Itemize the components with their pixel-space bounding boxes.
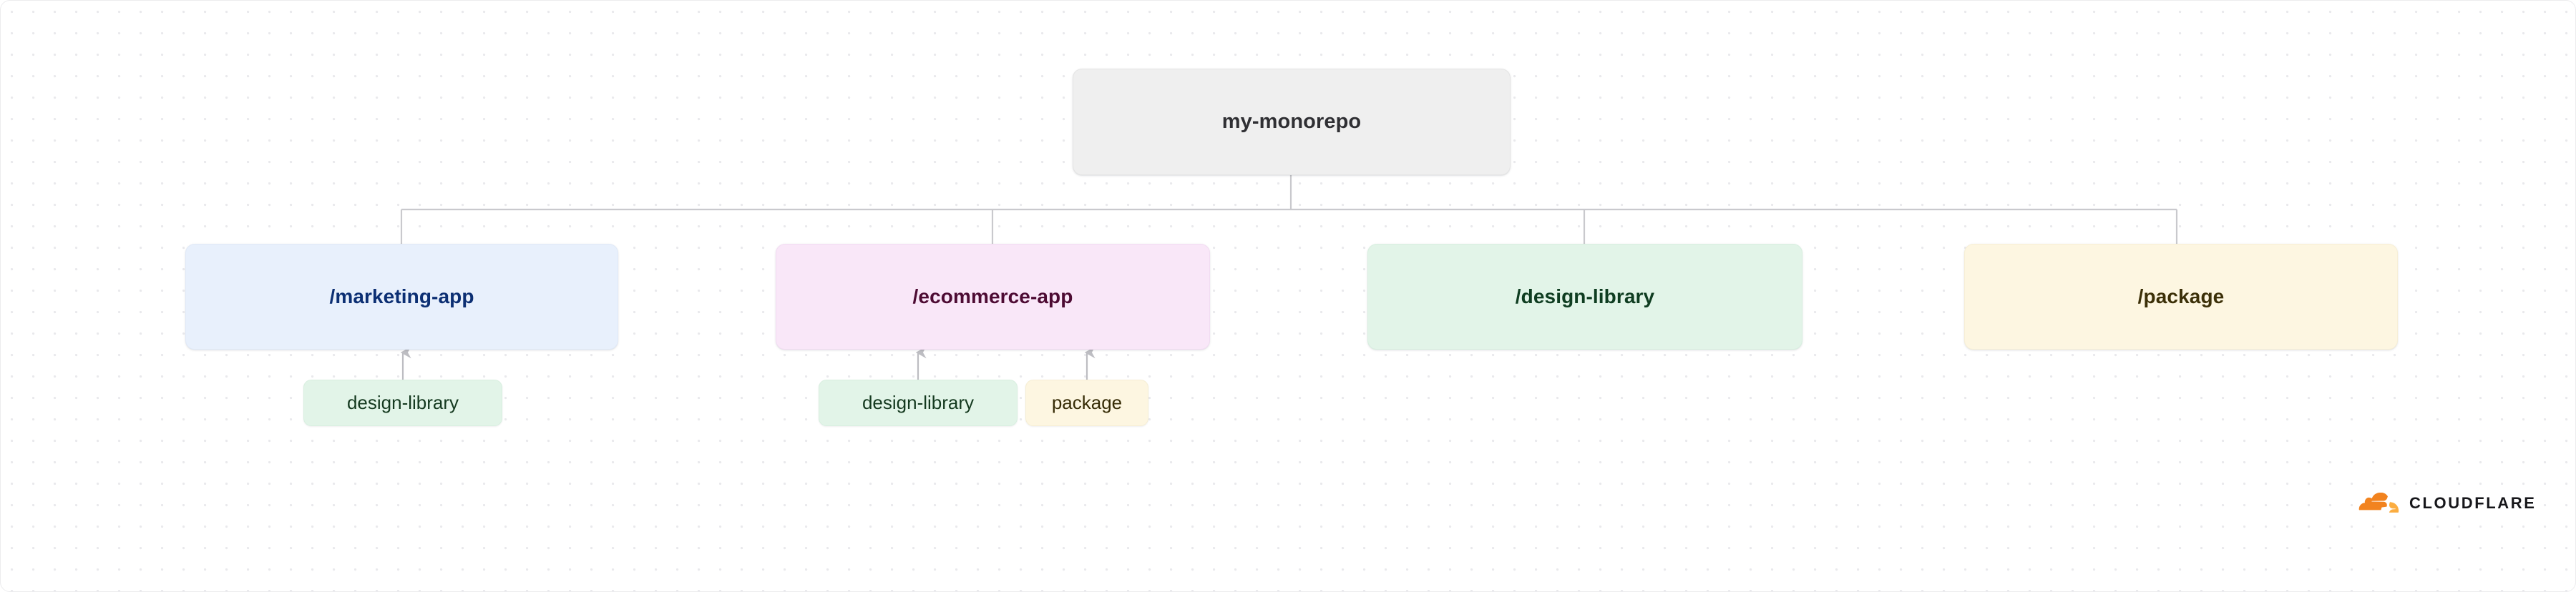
dependency-chip-label: design-library (862, 392, 974, 414)
dependency-chip-ecommerce-package[interactable]: package (1025, 380, 1148, 426)
dependency-chip-label: design-library (347, 392, 459, 414)
node-ecommerce-app-label: /ecommerce-app (913, 285, 1073, 308)
dependency-chip-ecommerce-design-library[interactable]: design-library (819, 380, 1018, 426)
node-marketing-app[interactable]: /marketing-app (185, 244, 618, 350)
cloudflare-cloud-icon (2355, 493, 2399, 514)
cloudflare-logo: CLOUDFLARE (2355, 493, 2537, 514)
diagram-canvas: my-monorepo /marketing-app /ecommerce-ap… (0, 0, 2576, 592)
cloudflare-wordmark: CLOUDFLARE (2409, 494, 2537, 513)
node-root[interactable]: my-monorepo (1073, 69, 1511, 175)
node-package-label: /package (2138, 285, 2225, 308)
dependency-chip-marketing-design-library[interactable]: design-library (303, 380, 502, 426)
node-package[interactable]: /package (1964, 244, 2398, 350)
node-marketing-app-label: /marketing-app (329, 285, 474, 308)
node-ecommerce-app[interactable]: /ecommerce-app (776, 244, 1210, 350)
dependency-chip-label: package (1052, 392, 1122, 414)
node-root-label: my-monorepo (1222, 110, 1361, 134)
node-design-library-label: /design-library (1516, 285, 1654, 308)
node-design-library[interactable]: /design-library (1367, 244, 1802, 350)
